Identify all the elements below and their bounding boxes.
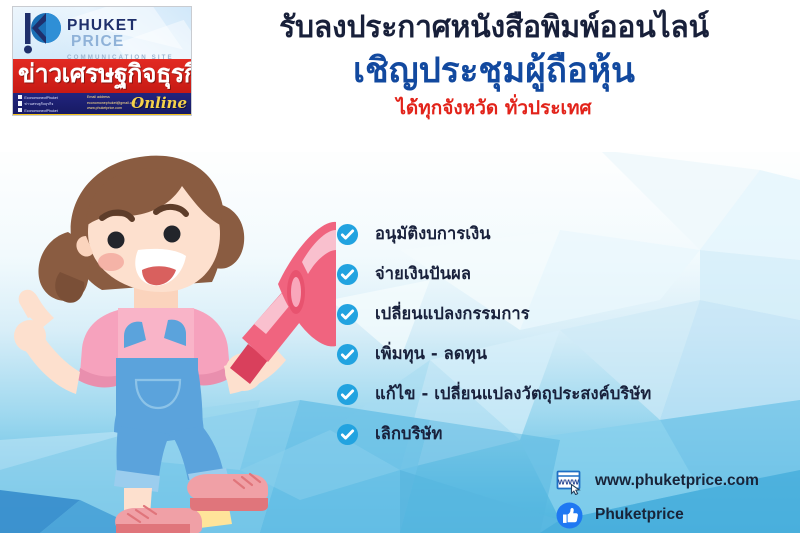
list-item-label: อนุมัติงบการเงิน <box>375 221 491 247</box>
list-item: เลิกบริษัท <box>336 414 651 454</box>
facebook-contact[interactable]: Phuketprice <box>556 498 759 532</box>
logo-tagline: COMMUNICATION SITE <box>67 55 191 59</box>
girl-with-megaphone-illustration <box>6 140 336 533</box>
check-circle-icon <box>336 263 359 286</box>
list-item-label: เพิ่มทุน - ลดทุน <box>375 341 487 367</box>
facebook-page-name: Phuketprice <box>595 506 684 524</box>
list-item: จ่ายเงินปันผล <box>336 254 651 294</box>
line-mini-icon <box>18 101 22 105</box>
list-item-label: จ่ายเงินปันผล <box>375 261 471 287</box>
list-item: เปลี่ยนแปลงกรรมการ <box>336 294 651 334</box>
www-browser-icon: WWW <box>556 468 583 495</box>
logo-brand-band: PHUKETPRICE COMMUNICATION SITE <box>13 7 191 59</box>
poster-header: PHUKETPRICE COMMUNICATION SITE ข่าวเศรษฐ… <box>0 0 800 152</box>
headline-line-2: เชิญประชุมผู้ถือหุ้น <box>196 49 792 95</box>
logo-online-label: Online <box>131 94 187 113</box>
phuket-price-logo[interactable]: PHUKETPRICE COMMUNICATION SITE ข่าวเศรษฐ… <box>12 6 192 116</box>
check-circle-icon <box>336 343 359 366</box>
check-circle-icon <box>336 223 359 246</box>
website-contact[interactable]: WWW www.phuketprice.com <box>556 464 759 498</box>
logo-brand-primary: PHUKET <box>67 18 138 34</box>
logo-gold-rule <box>13 114 191 116</box>
logo-thai-masthead-band: ข่าวเศรษฐกิจธุรกิจ <box>13 59 191 93</box>
list-item-label: แก้ไข - เปลี่ยนแปลงวัตถุประสงค์บริษัท <box>375 381 651 407</box>
facebook-mini-icon <box>18 95 22 99</box>
logo-thai-masthead: ข่าวเศรษฐกิจธุรกิจ <box>18 59 191 91</box>
list-item-label: เปลี่ยนแปลงกรรมการ <box>375 301 530 327</box>
svg-text:WWW: WWW <box>558 477 580 486</box>
service-checklist: อนุมัติงบการเงิน จ่ายเงินปันผล เปลี่ยนแป… <box>336 214 651 454</box>
headline-line-3: ได้ทุกจังหวัด ทั่วประเทศ <box>196 96 792 121</box>
youtube-mini-icon <box>18 108 22 112</box>
check-circle-icon <box>336 383 359 406</box>
logo-social-handles: EconomoneofPhuket ข่าวเศรษฐกิจธุรกิจ Eco… <box>18 95 58 114</box>
facebook-thumbs-up-icon <box>556 502 583 529</box>
list-item: เพิ่มทุน - ลดทุน <box>336 334 651 374</box>
logo-contact-band: EconomoneofPhuket ข่าวเศรษฐกิจธุรกิจ Eco… <box>13 93 191 114</box>
poster-canvas: PHUKETPRICE COMMUNICATION SITE ข่าวเศรษฐ… <box>0 0 800 533</box>
check-circle-icon <box>336 423 359 446</box>
logo-brand-secondary: PRICE <box>71 34 124 50</box>
headline-line-1: รับลงประกาศหนังสือพิมพ์ออนไลน์ <box>196 8 792 48</box>
logo-wordmark: PHUKETPRICE COMMUNICATION SITE <box>67 18 191 59</box>
list-item-label: เลิกบริษัท <box>375 421 443 447</box>
headline-block: รับลงประกาศหนังสือพิมพ์ออนไลน์ เชิญประชุ… <box>196 8 792 121</box>
logo-k-mark-icon <box>20 11 64 55</box>
list-item: อนุมัติงบการเงิน <box>336 214 651 254</box>
contact-block: WWW www.phuketprice.com Phuketprice <box>556 464 759 532</box>
check-circle-icon <box>336 303 359 326</box>
logo-email-info: Email address economonephuket@gmail.com … <box>87 95 137 112</box>
list-item: แก้ไข - เปลี่ยนแปลงวัตถุประสงค์บริษัท <box>336 374 651 414</box>
website-url: www.phuketprice.com <box>595 472 759 490</box>
